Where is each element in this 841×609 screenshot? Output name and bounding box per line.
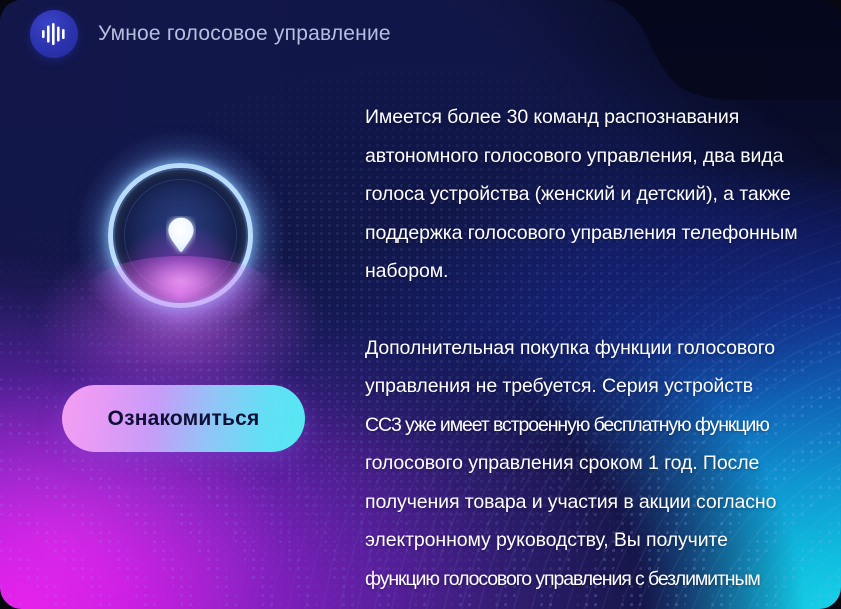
offer-line-5: получения товара и участия в акции согла… [365,483,815,522]
offer-line-8: сроком пользования. [365,598,815,609]
offer-line-6: электронному руководству, Вы получите [365,521,815,560]
page-title: Умное голосовое управление [98,22,391,46]
description-text: Имеется более 30 команд распознавания ав… [365,98,815,609]
voice-waveform-icon [30,10,78,58]
learn-more-button[interactable]: Ознакомиться [62,385,305,452]
offer-line-2: управления не требуется. Серия устройств [365,367,815,406]
voice-assistant-orb [108,163,253,308]
voice-control-promo-card: Умное голосовое управление [0,0,841,609]
offer-line-4: голосового управления сроком 1 год. Посл… [365,444,815,483]
paragraph-features: Имеется более 30 команд распознавания ав… [365,98,815,291]
orb-bottom-glow [86,256,276,328]
offer-line-3: CC3 уже имеет встроенную бесплатную функ… [365,406,815,445]
paragraph-offer: Дополнительная покупка функции голосовог… [365,329,815,609]
header: Умное голосовое управление [0,0,560,68]
offer-line-1: Дополнительная покупка функции голосовог… [365,329,815,368]
offer-line-7: функцию голосового управления с безлимит… [365,560,815,599]
learn-more-button-label: Ознакомиться [108,407,260,431]
voice-assistant-pin-icon [166,216,196,254]
